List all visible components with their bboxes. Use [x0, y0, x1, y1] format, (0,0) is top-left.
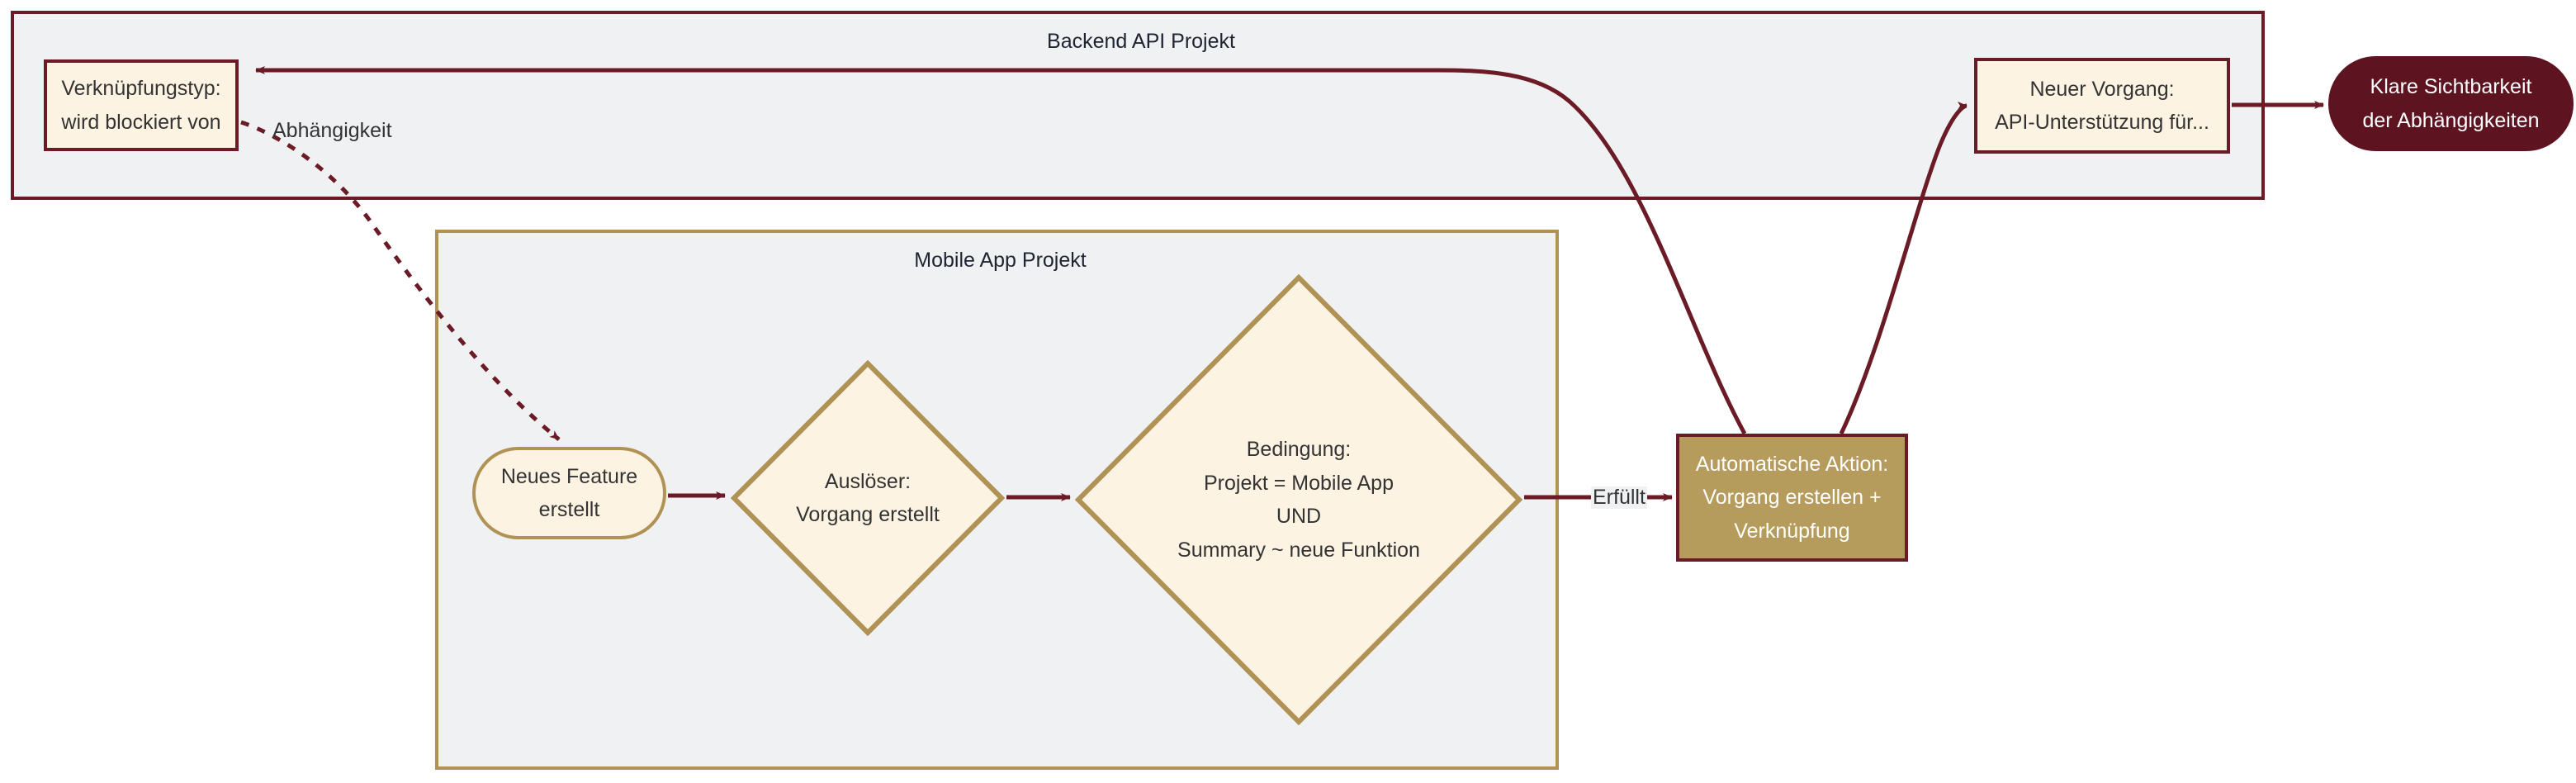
node-neues-feature-erstellt[interactable]: Neues Feature erstellt — [472, 447, 666, 539]
node-condition-line-2: Projekt = Mobile App — [1204, 467, 1394, 501]
edge-linktype-to-feature — [241, 122, 559, 439]
node-neuer-vorgang[interactable]: Neuer Vorgang: API-Unterstützung für... — [1974, 58, 2230, 154]
node-condition-line-3: UND — [1276, 500, 1321, 534]
flowchart-canvas: Backend API Projekt Mobile App Projekt V… — [0, 0, 2576, 783]
node-feature-line-1: Neues Feature — [501, 460, 637, 494]
node-automatische-aktion[interactable]: Automatische Aktion: Vorgang erstellen +… — [1676, 434, 1908, 562]
node-action-line-2: Vorgang erstellen + — [1702, 481, 1881, 515]
node-action-line-1: Automatische Aktion: — [1696, 448, 1888, 482]
node-newissue-line-2: API-Unterstützung für... — [1995, 106, 2209, 140]
node-trigger-label: Auslöser: Vorgang erstellt — [731, 360, 1005, 636]
node-trigger-line-1: Auslöser: — [825, 465, 911, 499]
node-action-line-3: Verknüpfung — [1734, 515, 1849, 548]
node-klare-sichtbarkeit[interactable]: Klare Sichtbarkeit der Abhängigkeiten — [2328, 56, 2574, 151]
edge-action-to-newissue — [1841, 106, 1967, 434]
node-verknuepfungstyp[interactable]: Verknüpfungstyp: wird blockiert von — [44, 59, 239, 151]
node-visibility-line-1: Klare Sichtbarkeit — [2370, 70, 2532, 104]
edge-label-erfuellt: Erfüllt — [1591, 486, 1647, 509]
node-condition-line-4: Summary ~ neue Funktion — [1177, 534, 1420, 567]
node-visibility-line-2: der Abhängigkeiten — [2362, 104, 2539, 138]
node-feature-line-2: erstellt — [539, 493, 600, 527]
node-linktype-line-2: wird blockiert von — [61, 106, 220, 140]
node-condition-line-1: Bedingung: — [1247, 433, 1352, 467]
node-condition-label: Bedingung: Projekt = Mobile App UND Summ… — [1075, 274, 1522, 725]
node-ausloeser-vorgang-erstellt[interactable]: Auslöser: Vorgang erstellt — [731, 360, 1005, 636]
node-bedingung[interactable]: Bedingung: Projekt = Mobile App UND Summ… — [1075, 274, 1522, 725]
node-linktype-line-1: Verknüpfungstyp: — [61, 72, 220, 106]
node-newissue-line-1: Neuer Vorgang: — [2029, 73, 2174, 107]
edge-label-abhaengigkeit: Abhängigkeit — [272, 121, 392, 141]
node-trigger-line-2: Vorgang erstellt — [796, 498, 940, 532]
